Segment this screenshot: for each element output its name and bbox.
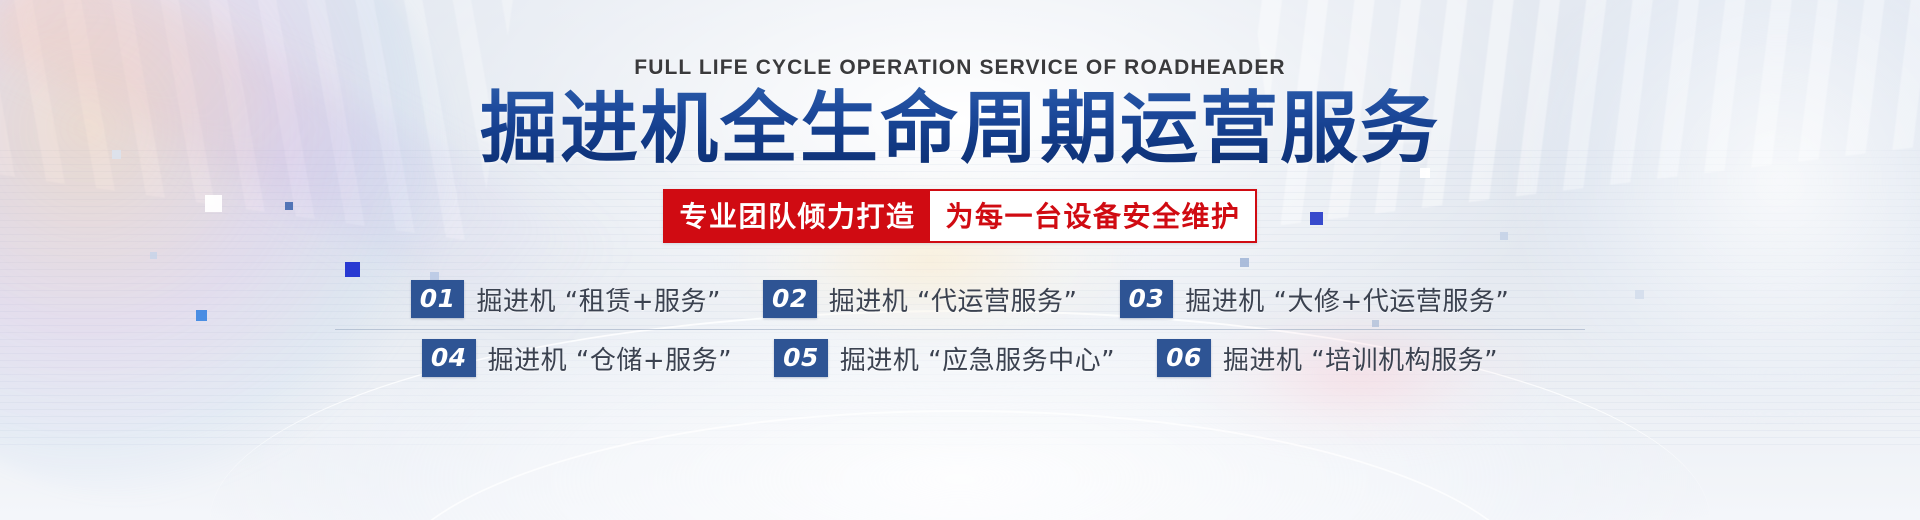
service-item-05[interactable]: 05 掘进机 “应急服务中心” — [774, 339, 1115, 377]
service-number-badge: 03 — [1120, 280, 1174, 318]
service-label: 掘进机 “租赁+服务” — [476, 281, 721, 318]
service-label: 掘进机 “代运营服务” — [829, 281, 1078, 318]
service-number-badge: 04 — [422, 339, 476, 377]
page-title: 掘进机全生命周期运营服务 — [480, 86, 1440, 173]
service-item-06[interactable]: 06 掘进机 “培训机构服务” — [1157, 339, 1498, 377]
roadheader-service-banner: FULL LIFE CYCLE OPERATION SERVICE OF ROA… — [0, 0, 1920, 520]
tagline-right: 为每一台设备安全维护 — [930, 191, 1255, 241]
service-label: 掘进机 “培训机构服务” — [1223, 340, 1498, 377]
tagline-left: 专业团队倾力打造 — [665, 191, 929, 241]
service-item-02[interactable]: 02 掘进机 “代运营服务” — [763, 280, 1078, 318]
service-row-bottom: 04 掘进机 “仓储+服务” 05 掘进机 “应急服务中心” 06 掘进机 “培… — [335, 330, 1585, 388]
service-row-top: 01 掘进机 “租赁+服务” 02 掘进机 “代运营服务” 03 掘进机 “大修… — [335, 271, 1585, 330]
service-label: 掘进机 “仓储+服务” — [488, 340, 733, 377]
english-subtitle: FULL LIFE CYCLE OPERATION SERVICE OF ROA… — [634, 56, 1285, 80]
service-item-04[interactable]: 04 掘进机 “仓储+服务” — [422, 339, 732, 377]
service-label: 掘进机 “应急服务中心” — [840, 340, 1115, 377]
service-number-badge: 01 — [411, 280, 465, 318]
service-label: 掘进机 “大修+代运营服务” — [1185, 281, 1509, 318]
service-list: 01 掘进机 “租赁+服务” 02 掘进机 “代运营服务” 03 掘进机 “大修… — [335, 271, 1585, 388]
service-item-03[interactable]: 03 掘进机 “大修+代运营服务” — [1120, 280, 1510, 318]
service-number-badge: 06 — [1157, 339, 1211, 377]
service-number-badge: 05 — [774, 339, 828, 377]
banner-content: FULL LIFE CYCLE OPERATION SERVICE OF ROA… — [0, 0, 1920, 520]
service-item-01[interactable]: 01 掘进机 “租赁+服务” — [411, 280, 721, 318]
service-number-badge: 02 — [763, 280, 817, 318]
tagline-banner: 专业团队倾力打造 为每一台设备安全维护 — [663, 189, 1256, 243]
